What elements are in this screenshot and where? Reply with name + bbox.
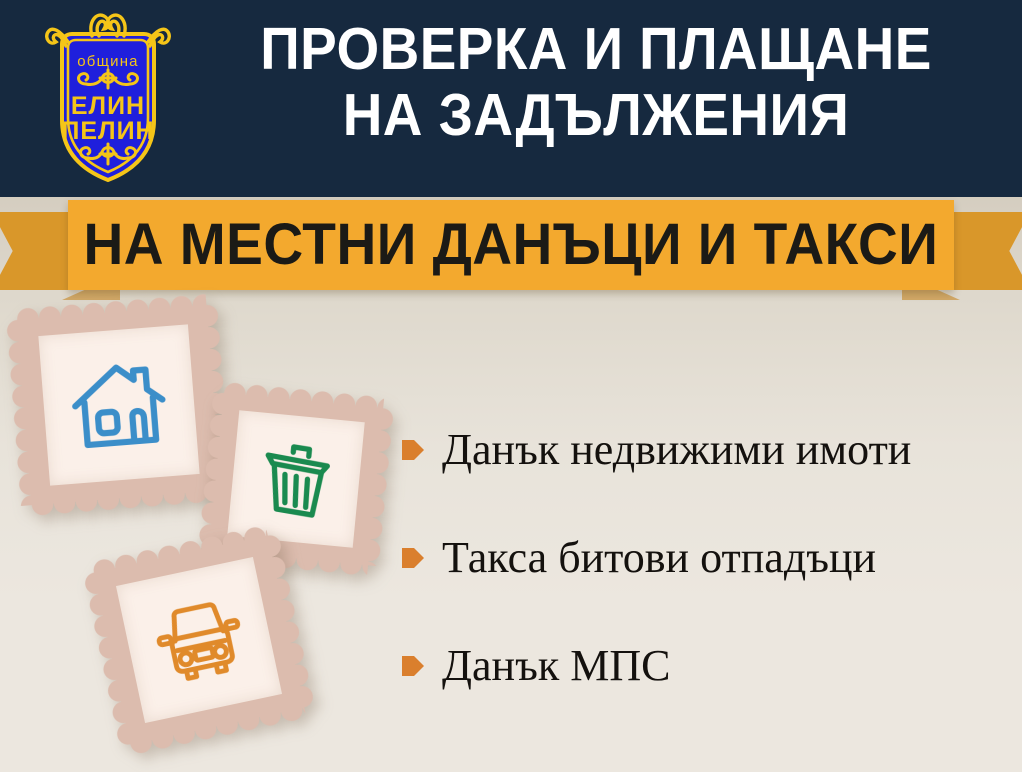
stamp-perforated-frame [94, 535, 305, 744]
stamp-paper [38, 324, 199, 485]
ribbon-label: НА МЕСТНИ ДАНЪЦИ И ТАКСИ [84, 216, 939, 274]
list-item[interactable]: Такса битови отпадъци [402, 532, 1012, 584]
stamp-house [17, 305, 221, 505]
poster-canvas: община ЕЛИН ПЕЛИН [0, 0, 1022, 772]
arrow-pentagon-bullet-icon [402, 545, 426, 571]
logo-line-obshtina: община [77, 53, 138, 70]
coat-of-arms-icon: община ЕЛИН ПЕЛИН [42, 8, 174, 190]
header-banner: община ЕЛИН ПЕЛИН [0, 0, 1022, 197]
tax-type-list: Данък недвижими имоти Такса битови отпад… [402, 424, 1012, 748]
title-line-1: ПРОВЕРКА И ПЛАЩАНЕ [215, 16, 978, 82]
stamp-paper [116, 557, 282, 723]
list-item[interactable]: Данък МПС [402, 640, 1012, 692]
subtitle-ribbon: НА МЕСТНИ ДАНЪЦИ И ТАКСИ [0, 196, 1022, 306]
stamp-paper [227, 410, 364, 547]
arrow-pentagon-bullet-icon [402, 653, 426, 679]
logo-line-pelin: ПЕЛИН [61, 117, 154, 145]
list-item-label: Данък недвижими имоти [442, 426, 911, 474]
car-front-icon [141, 582, 257, 698]
stamp-perforated-frame [17, 305, 221, 505]
trash-bin-icon [248, 431, 344, 527]
stamp-car [94, 535, 305, 744]
page-title: ПРОВЕРКА И ПЛАЩАНЕ НА ЗАДЪЛЖЕНИЯ [186, 16, 1006, 148]
arrow-pentagon-bullet-icon [402, 437, 426, 463]
ribbon-plate: НА МЕСТНИ ДАНЪЦИ И ТАКСИ [68, 200, 954, 290]
list-item[interactable]: Данък недвижими имоти [402, 424, 1012, 476]
list-item-label: Данък МПС [442, 642, 670, 690]
house-icon [63, 349, 175, 461]
title-line-2: НА ЗАДЪЛЖЕНИЯ [215, 82, 978, 148]
municipality-logo: община ЕЛИН ПЕЛИН [42, 8, 174, 190]
list-item-label: Такса битови отпадъци [442, 534, 876, 582]
logo-line-elin: ЕЛИН [71, 92, 145, 120]
